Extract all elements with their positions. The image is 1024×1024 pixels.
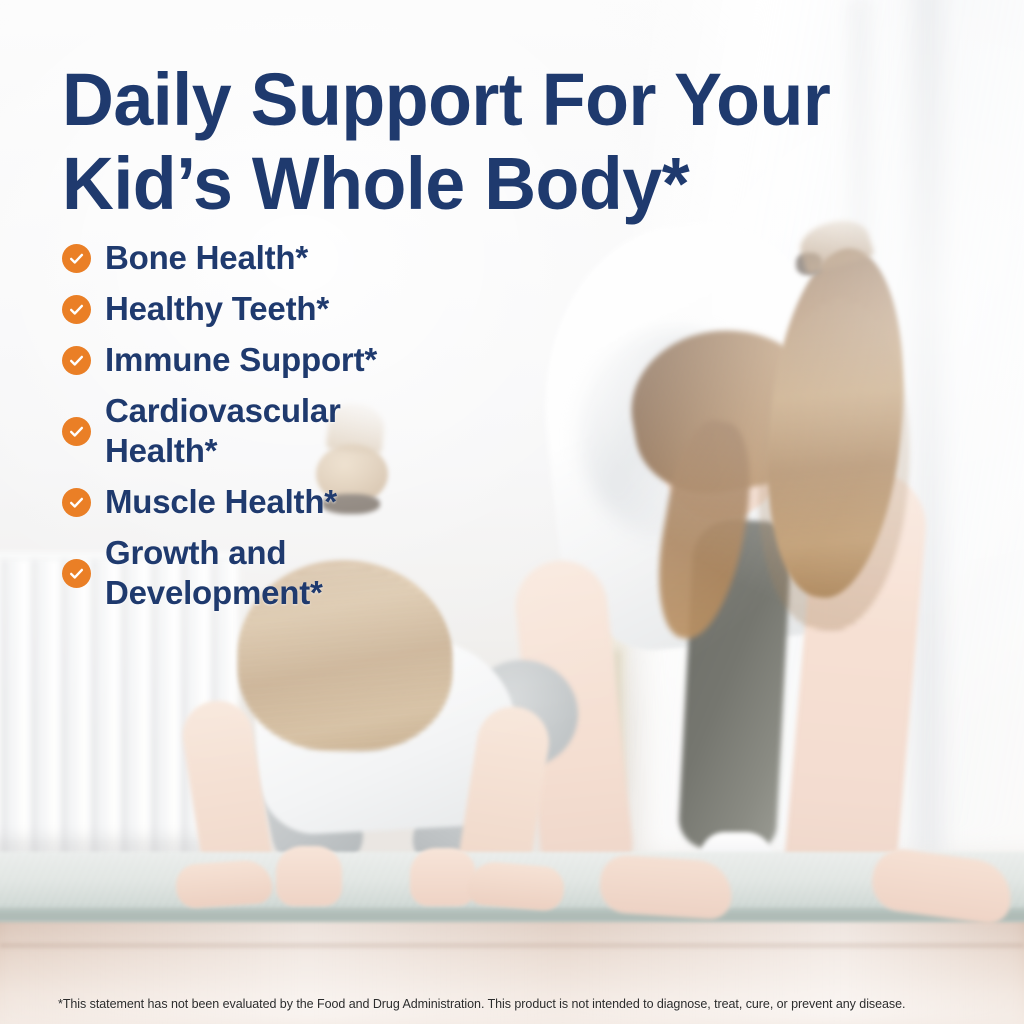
benefit-label: Cardiovascular Health* <box>105 391 341 471</box>
page-title: Daily Support For Your Kid’s Whole Body* <box>62 58 916 226</box>
list-item: Bone Health* <box>62 238 532 278</box>
check-circle-icon <box>62 417 91 446</box>
check-circle-icon <box>62 346 91 375</box>
text-overlay: Daily Support For Your Kid’s Whole Body*… <box>0 0 1024 1024</box>
list-item: Healthy Teeth* <box>62 289 532 329</box>
benefit-label: Healthy Teeth* <box>105 289 329 329</box>
benefit-label: Muscle Health* <box>105 482 337 522</box>
benefit-label: Immune Support* <box>105 340 377 380</box>
fda-disclaimer: *This statement has not been evaluated b… <box>58 996 988 1012</box>
benefits-list: Bone Health* Healthy Teeth* Immune Suppo… <box>62 238 532 624</box>
benefit-label: Growth and Development* <box>105 533 323 613</box>
list-item: Immune Support* <box>62 340 532 380</box>
check-circle-icon <box>62 488 91 517</box>
check-circle-icon <box>62 559 91 588</box>
list-item: Growth and Development* <box>62 533 532 613</box>
promo-image: Daily Support For Your Kid’s Whole Body*… <box>0 0 1024 1024</box>
check-circle-icon <box>62 244 91 273</box>
list-item: Cardiovascular Health* <box>62 391 532 471</box>
benefit-label: Bone Health* <box>105 238 308 278</box>
list-item: Muscle Health* <box>62 482 532 522</box>
check-circle-icon <box>62 295 91 324</box>
